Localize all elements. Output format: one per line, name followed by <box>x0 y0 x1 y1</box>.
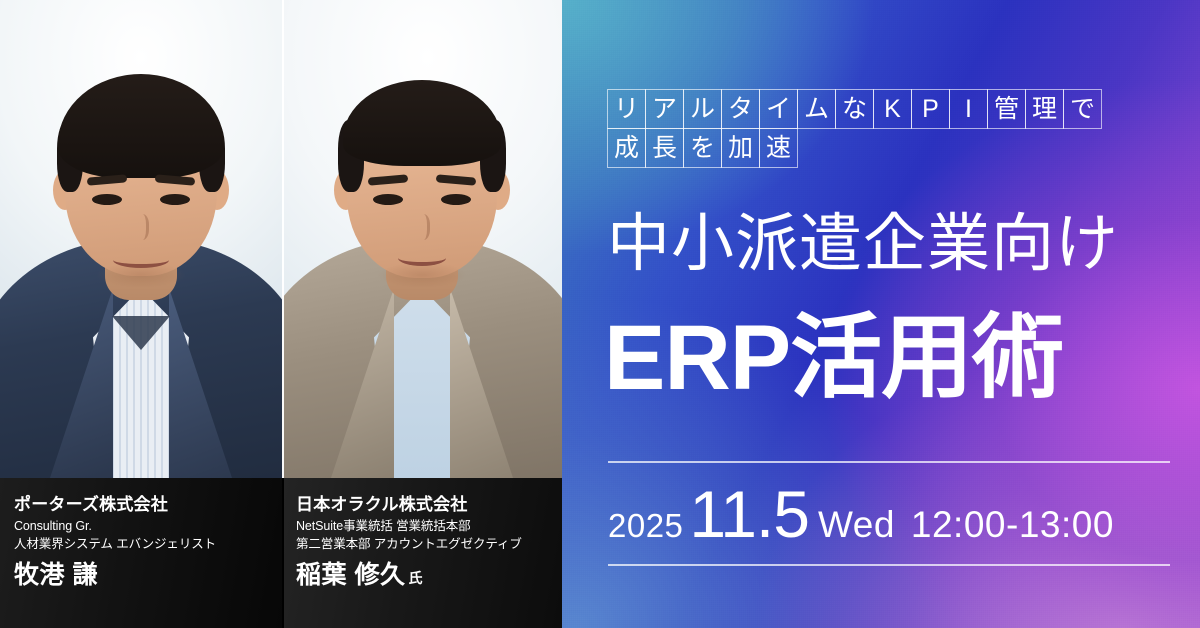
subtitle-char-cell: リ <box>607 89 646 129</box>
subtitle-char-cell: を <box>683 128 722 168</box>
speaker-photo-2 <box>282 0 562 478</box>
title-hero: ERP活用術 <box>604 312 1063 404</box>
event-datetime: 2025 11.5 Wed 12:00-13:00 <box>608 481 1114 553</box>
subtitle-char-cell: 理 <box>1025 89 1064 129</box>
chin-shadow <box>96 262 186 288</box>
speaker-company: 日本オラクル株式会社 <box>296 494 548 515</box>
subtitle-row-1: リアルタイムなKPI管理で <box>607 89 1102 129</box>
eye-left <box>92 194 122 205</box>
subtitle-char-cell: 管 <box>987 89 1026 129</box>
caption-divider <box>282 478 284 628</box>
eye-left <box>373 194 403 205</box>
subtitle-char-cell: 成 <box>607 128 646 168</box>
key-visual-panel: リアルタイムなKPI管理で 成長を加速 中小派遣企業向け ERP活用術 2025… <box>562 0 1200 628</box>
key-visual-content: リアルタイムなKPI管理で 成長を加速 中小派遣企業向け ERP活用術 2025… <box>562 0 1200 628</box>
speaker-portrait-2 <box>282 0 562 478</box>
eye-right <box>441 194 471 205</box>
speaker-honorific: 氏 <box>408 570 422 586</box>
subtitle-char-cell: 長 <box>645 128 684 168</box>
speaker-card-1: ポーターズ株式会社 Consulting Gr. 人材業界システム エバンジェリ… <box>0 0 282 628</box>
speaker-card-2: 日本オラクル株式会社 NetSuite事業統括 営業統括本部 第二営業本部 アカ… <box>282 0 562 628</box>
webinar-banner: ポーターズ株式会社 Consulting Gr. 人材業界システム エバンジェリ… <box>0 0 1200 628</box>
subtitle-char-cell: イ <box>759 89 798 129</box>
speaker-company: ポーターズ株式会社 <box>14 494 268 515</box>
speaker-name: 稲葉 修久氏 <box>296 562 548 590</box>
event-year: 2025 <box>608 507 683 545</box>
chin-shadow <box>377 262 467 288</box>
hair <box>58 74 224 178</box>
subtitle-char-cell: な <box>835 89 874 129</box>
subtitle-row-2: 成長を加速 <box>607 128 1102 168</box>
nose <box>133 214 149 240</box>
hair <box>343 80 501 166</box>
subtitle-char-cell: ア <box>645 89 684 129</box>
speaker-caption-1: ポーターズ株式会社 Consulting Gr. 人材業界システム エバンジェリ… <box>0 478 282 628</box>
subtitle-char-cell: P <box>911 89 950 129</box>
event-time: 12:00-13:00 <box>911 504 1114 546</box>
speaker-dept-line-2: 第二営業本部 アカウントエグゼクティブ <box>296 535 548 553</box>
rule-below-date <box>608 564 1170 566</box>
subtitle-char-cell: 加 <box>721 128 760 168</box>
title-main: 中小派遣企業向け <box>607 213 1119 276</box>
nose <box>414 214 430 240</box>
speakers-panel: ポーターズ株式会社 Consulting Gr. 人材業界システム エバンジェリ… <box>0 0 562 628</box>
subtitle-char-cell: ル <box>683 89 722 129</box>
rule-above-date <box>608 461 1170 463</box>
speaker-photo-1 <box>0 0 282 478</box>
subtitle-char-cell: で <box>1063 89 1102 129</box>
speaker-name-text: 牧港 謙 <box>14 561 98 589</box>
subtitle-char-cell: ム <box>797 89 836 129</box>
speaker-dept-line-2: 人材業界システム エバンジェリスト <box>14 535 268 553</box>
subtitle-char-cell: I <box>949 89 988 129</box>
speaker-caption-2: 日本オラクル株式会社 NetSuite事業統括 営業統括本部 第二営業本部 アカ… <box>282 478 562 628</box>
subtitle-char-cell: K <box>873 89 912 129</box>
speaker-dept-line-1: Consulting Gr. <box>14 517 268 535</box>
speaker-dept-line-1: NetSuite事業統括 営業統括本部 <box>296 517 548 535</box>
speaker-portrait-1 <box>0 0 282 478</box>
subtitle-char-cell: タ <box>721 89 760 129</box>
subtitle-char-cell: 速 <box>759 128 798 168</box>
eye-right <box>160 194 190 205</box>
speaker-name: 牧港 謙 <box>14 562 268 590</box>
speaker-name-text: 稲葉 修久 <box>296 561 405 589</box>
boxed-subtitle: リアルタイムなKPI管理で 成長を加速 <box>607 89 1102 168</box>
event-day: 11.5 <box>689 481 809 547</box>
event-weekday: Wed <box>818 504 895 546</box>
